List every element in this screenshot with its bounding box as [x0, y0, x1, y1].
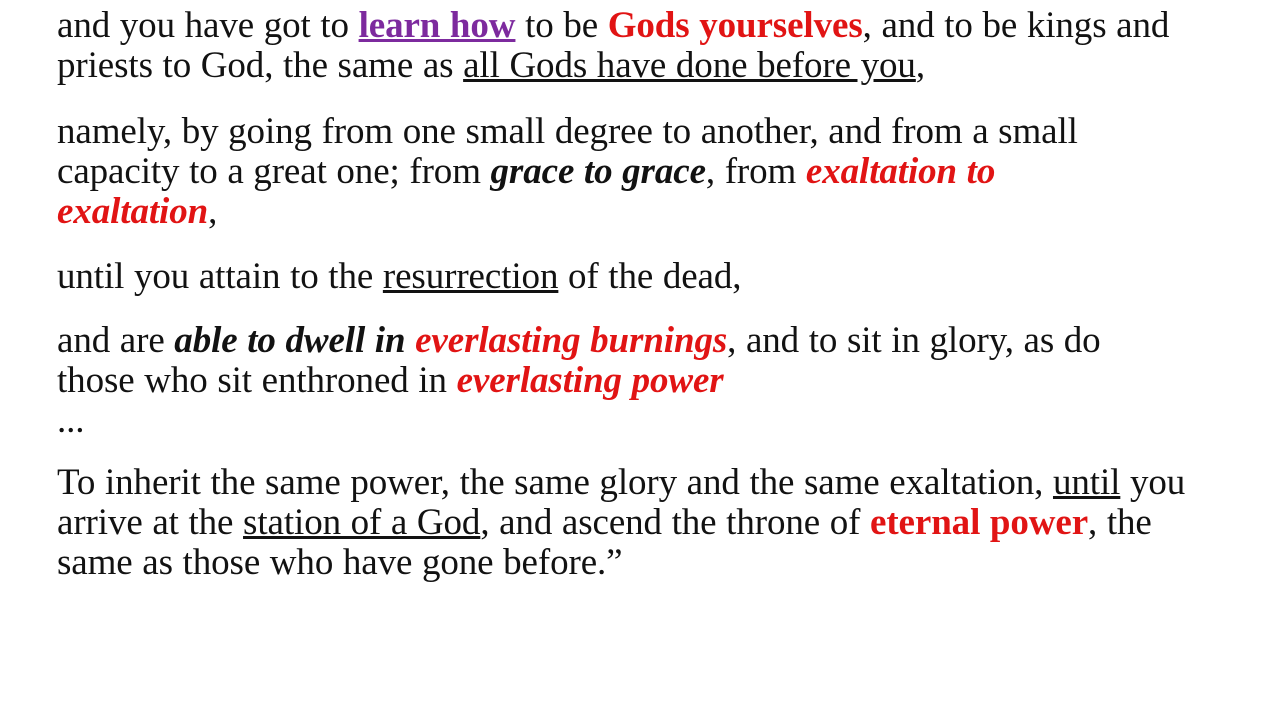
slide-canvas: and you have got to learn how to be Gods…	[0, 0, 1280, 720]
highlight-all-gods-have-done-before-you: all Gods have done before you	[463, 45, 916, 86]
paragraph-5: To inherit the same power, the same glor…	[57, 463, 1192, 583]
highlight-gods-yourselves: Gods yourselves	[608, 5, 863, 46]
text-run: to be	[515, 5, 607, 46]
highlight-eternal-power: eternal power	[870, 502, 1088, 543]
paragraph-3: until you attain to the resurrection of …	[57, 257, 1202, 297]
highlight-grace-to-grace: grace to grace	[491, 151, 706, 192]
text-run: To inherit the same power, the same glor…	[57, 462, 1053, 503]
paragraph-1: and you have got to learn how to be Gods…	[57, 6, 1197, 86]
text-run: and you have got to	[57, 5, 359, 46]
text-run: ,	[208, 191, 217, 232]
highlight-able-to-dwell-in: able to dwell in	[174, 320, 415, 361]
highlight-everlasting-burnings: everlasting burnings	[415, 320, 727, 361]
ellipsis: ...	[57, 401, 1182, 441]
text-run: ,	[916, 45, 925, 86]
text-run: until you attain to the	[57, 256, 383, 297]
text-run: , and ascend the throne of	[480, 502, 870, 543]
highlight-everlasting-power: everlasting power	[457, 360, 724, 401]
text-run: of the dead,	[558, 256, 741, 297]
paragraph-4: and are able to dwell in everlasting bur…	[57, 321, 1182, 441]
highlight-resurrection: resurrection	[383, 256, 559, 297]
text-run: , from	[706, 151, 806, 192]
paragraph-2: namely, by going from one small degree t…	[57, 112, 1132, 232]
highlight-until: until	[1053, 462, 1120, 503]
highlight-learn-how: learn how	[359, 5, 516, 46]
text-run: and are	[57, 320, 174, 361]
highlight-station-of-a-god: station of a God	[243, 502, 480, 543]
